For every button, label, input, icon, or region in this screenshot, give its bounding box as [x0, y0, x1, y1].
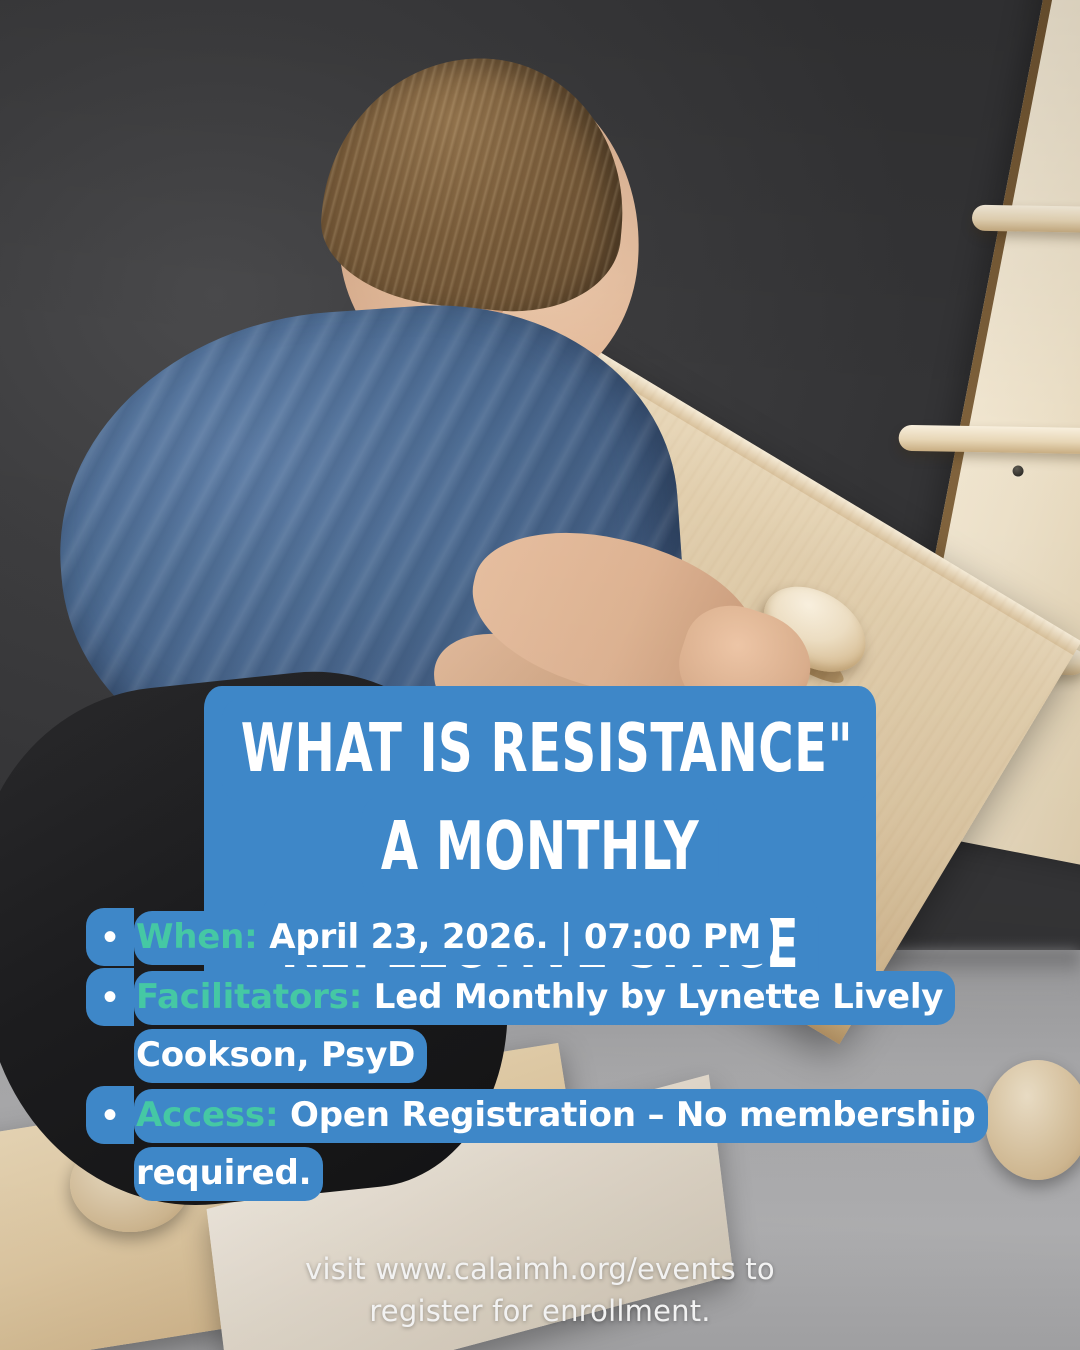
- detail-label-when: When:: [136, 917, 258, 957]
- detail-value-when: April 23, 2026. | 07:00 PM: [269, 917, 761, 957]
- ramp-foot: [985, 1060, 1080, 1180]
- detail-access-text: Access: Open Registration – No membershi…: [134, 1086, 986, 1202]
- detail-label-facilitators: Facilitators:: [136, 977, 362, 1017]
- detail-row-facilitators: • Facilitators: Led Monthly by Lynette L…: [86, 968, 986, 1084]
- ladder-rung: [972, 205, 1080, 236]
- detail-label-access: Access:: [136, 1095, 278, 1135]
- screw-head: [1012, 465, 1025, 478]
- bullet-icon: •: [86, 1086, 134, 1144]
- event-flyer-poster: WHAT IS RESISTANCE" A MONTHLY REFLECTIVE…: [0, 0, 1080, 1350]
- detail-when-text: When: April 23, 2026. | 07:00 PM: [134, 908, 986, 966]
- footer-line-1: visit www.calaimh.org/events to: [0, 1248, 1080, 1290]
- detail-row-access: • Access: Open Registration – No members…: [86, 1086, 986, 1202]
- event-details-list: • When: April 23, 2026. | 07:00 PM • Fac…: [86, 908, 986, 1204]
- detail-row-when: • When: April 23, 2026. | 07:00 PM: [86, 908, 986, 966]
- detail-facilitators-text: Facilitators: Led Monthly by Lynette Liv…: [134, 968, 986, 1084]
- child-hair: [315, 45, 636, 320]
- footer-line-2: register for enrollment.: [0, 1290, 1080, 1332]
- ladder-rung: [898, 425, 1080, 456]
- bullet-icon: •: [86, 908, 134, 966]
- headline-line-1: WHAT IS RESISTANCE" A MONTHLY: [222, 700, 859, 896]
- bullet-icon: •: [86, 968, 134, 1026]
- poster-footer: visit www.calaimh.org/events to register…: [0, 1248, 1080, 1332]
